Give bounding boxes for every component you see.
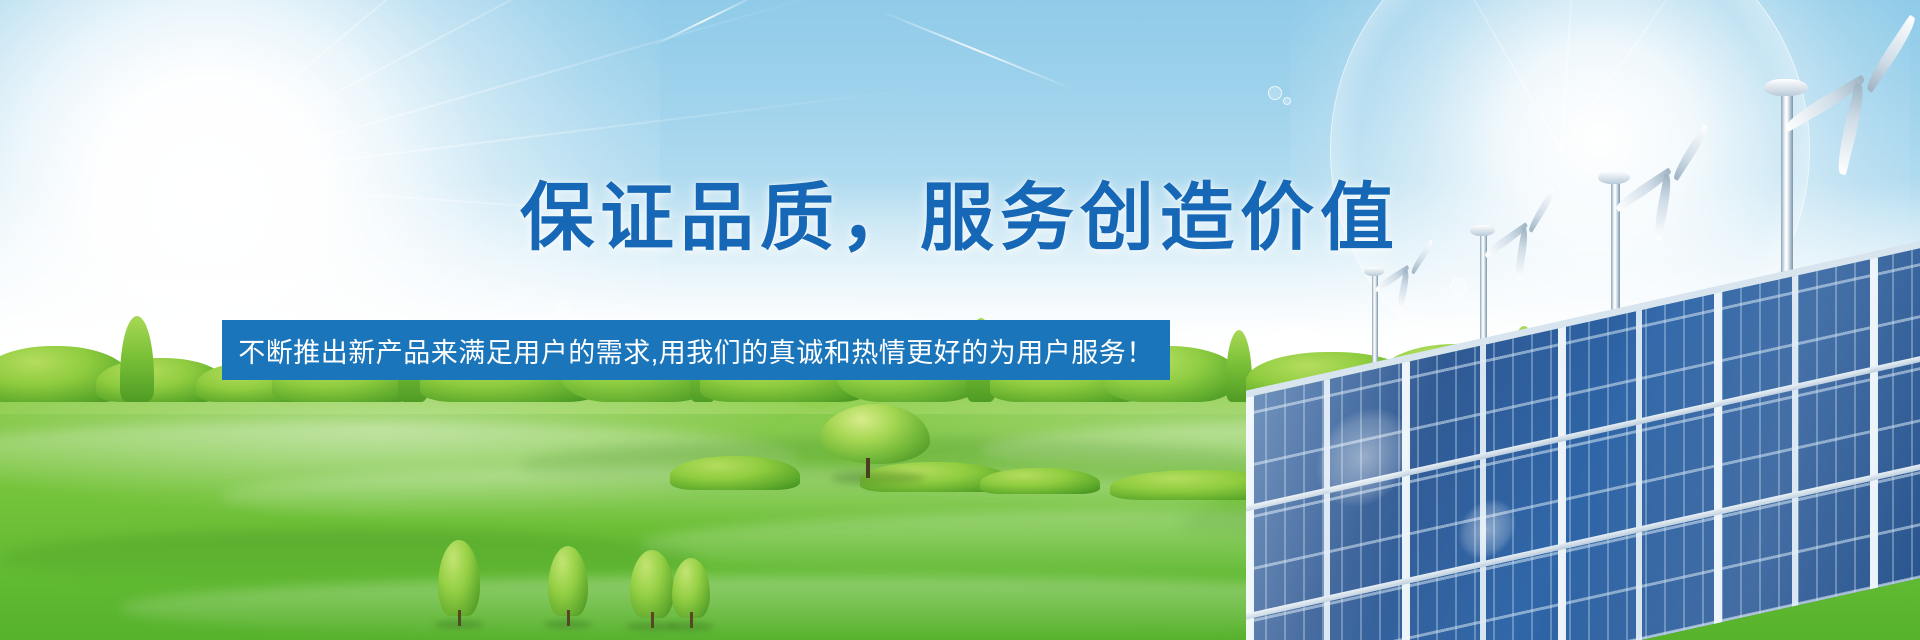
- hero-banner: 保证品质，服务创造价值 不断推出新产品来满足用户的需求,用我们的真诚和热情更好的…: [0, 0, 1920, 640]
- feature-tree-right: [1255, 410, 1375, 472]
- subtitle-bar: 不断推出新产品来满足用户的需求,用我们的真诚和热情更好的为用户服务！: [222, 320, 1170, 380]
- feature-tree: [820, 404, 930, 464]
- page-title: 保证品质，服务创造价值: [0, 158, 1920, 265]
- subtitle-text: 不断推出新产品来满足用户的需求,用我们的真诚和热情更好的为用户服务！: [238, 331, 1154, 370]
